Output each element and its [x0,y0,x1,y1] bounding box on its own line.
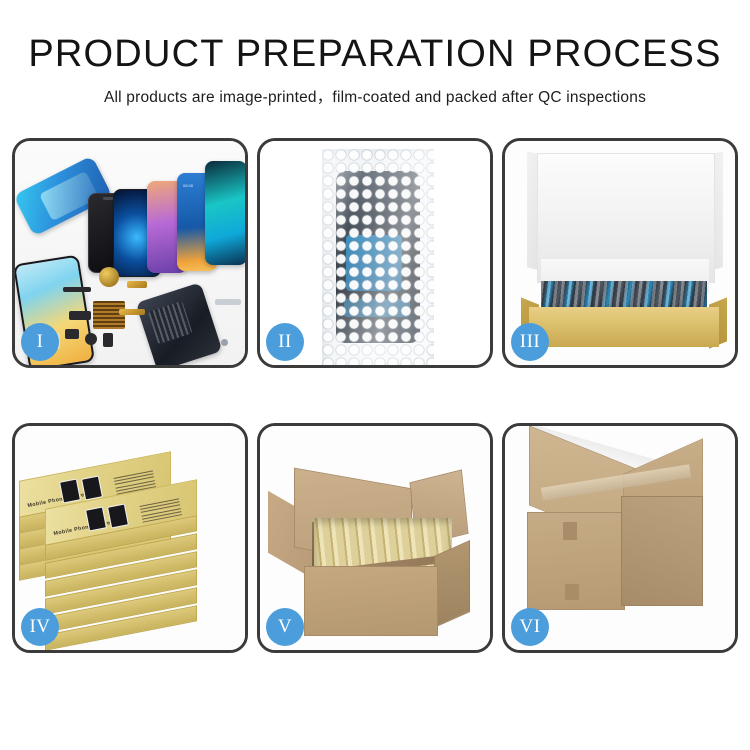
product-preparation-infographic: PRODUCT PREPARATION PROCESS All products… [0,0,750,750]
mailer-front-icon [529,307,719,347]
step-panel-4: Mobile Phone Spare Parts Mobile Phone Sp… [12,423,248,653]
connector-grid-icon [93,301,125,329]
step-panel-1: 08:08 I [12,138,248,368]
step-badge-4: IV [21,608,59,646]
small-part-icon [69,311,91,320]
step-badge-2: II [266,323,304,361]
flex-cable-icon [63,287,91,292]
box-screen-print-icon [59,478,81,503]
gold-component-icon [99,267,119,287]
header: PRODUCT PREPARATION PROCESS All products… [0,0,750,107]
metal-bracket-icon [215,299,241,305]
gold-connector-icon [119,309,145,315]
plastic-sheen-icon [322,149,434,365]
steps-grid: 08:08 I [12,138,738,683]
step-badge-3: III [511,323,549,361]
box-screen-print-icon [85,506,107,531]
page-title: PRODUCT PREPARATION PROCESS [0,35,750,75]
step-badge-1: I [21,323,59,361]
carton-notch-bottom-icon [565,584,579,600]
speaker-part-icon [85,333,97,345]
sealed-carton-side-icon [621,496,703,606]
step-panel-5: V [257,423,493,653]
carton-notch-top-icon [563,522,577,540]
screw-icon [221,339,228,346]
disassembled-phone-back-icon [136,282,223,365]
carton-side-right-icon [434,540,470,628]
step-panel-3: III [502,138,738,368]
box-screen-print-icon [81,475,103,500]
gold-flex-icon [127,281,147,288]
camera-part-icon [103,333,113,347]
carton-front-icon [304,566,438,636]
box-screen-print-icon [107,503,129,528]
teal-back-cover-phone-icon [205,161,245,265]
page-subtitle: All products are image-printed，film-coat… [0,85,750,107]
button-part-icon [65,329,79,339]
step-panel-2: II [257,138,493,368]
step-badge-6: VI [511,608,549,646]
step-panel-6: VI [502,423,738,653]
bubble-bag [322,149,434,365]
step-badge-5: V [266,608,304,646]
